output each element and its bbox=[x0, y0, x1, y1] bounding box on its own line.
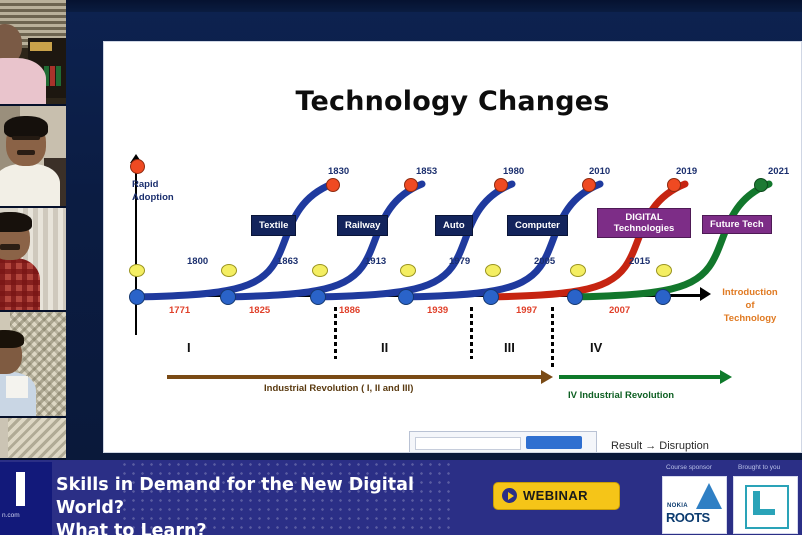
dot-blue-base-3 bbox=[398, 289, 414, 305]
arrow-industrial-revolution-head-icon bbox=[541, 370, 553, 384]
year-bottom-1: 1771 bbox=[169, 305, 190, 316]
dot-yellow-mid-3 bbox=[400, 264, 416, 277]
revolution-numeral-1: I bbox=[187, 340, 191, 355]
dot-yellow-mid-6 bbox=[656, 264, 672, 277]
year-top-1: 1830 bbox=[328, 166, 349, 177]
dot-blue-base-4 bbox=[483, 289, 499, 305]
participant-brow bbox=[12, 136, 40, 140]
year-mid-3: 1913 bbox=[365, 256, 386, 267]
dot-yellow-origin bbox=[129, 264, 145, 277]
year-bottom-6: 2007 bbox=[609, 305, 630, 316]
participant-hair bbox=[4, 116, 48, 138]
meeting-top-bar bbox=[0, 0, 802, 12]
year-mid-5: 2005 bbox=[534, 256, 555, 267]
year-bottom-2: 1825 bbox=[249, 305, 270, 316]
year-bottom-5: 1997 bbox=[516, 305, 537, 316]
tech-box-railway[interactable]: Railway bbox=[337, 215, 388, 236]
shared-slide: Technology Changes Rapid Adoption Introd… bbox=[103, 41, 802, 453]
divider-3 bbox=[551, 307, 554, 369]
chat-send-label bbox=[526, 436, 582, 449]
tech-box-textile[interactable]: Textile bbox=[251, 215, 296, 236]
dot-red-top-3 bbox=[494, 178, 508, 192]
participant-hair bbox=[0, 212, 32, 232]
year-top-5: 2019 bbox=[676, 166, 697, 177]
participant-torso bbox=[0, 258, 40, 312]
tech-box-future[interactable]: Future Tech bbox=[702, 215, 772, 234]
channel-watermark: n.com bbox=[0, 462, 52, 535]
play-icon bbox=[502, 488, 517, 503]
revolution-numeral-4: IV bbox=[590, 340, 602, 355]
roots-logo-text: ROOTS bbox=[666, 510, 710, 525]
year-mid-4: 1979 bbox=[449, 256, 470, 267]
dot-blue-base-5 bbox=[567, 289, 583, 305]
year-top-3: 1980 bbox=[503, 166, 524, 177]
tech-box-digital-line1: DIGITAL bbox=[605, 212, 683, 223]
watermark-icon bbox=[16, 472, 25, 506]
chat-send-button[interactable] bbox=[526, 436, 582, 449]
tile-book bbox=[50, 66, 55, 86]
s-curve-textile bbox=[137, 184, 332, 297]
tech-box-digital[interactable]: DIGITAL Technologies bbox=[597, 208, 691, 238]
webinar-button-label: WEBINAR bbox=[523, 488, 588, 503]
tech-box-computer[interactable]: Computer bbox=[507, 215, 568, 236]
revolution-numeral-2: II bbox=[381, 340, 388, 355]
watermark-text: n.com bbox=[2, 512, 20, 519]
chat-input[interactable] bbox=[415, 437, 521, 450]
chat-widget[interactable] bbox=[409, 431, 597, 453]
dot-green-top-6 bbox=[754, 178, 768, 192]
tile-lamp bbox=[30, 42, 52, 51]
participant-torso bbox=[0, 164, 60, 208]
tech-box-auto[interactable]: Auto bbox=[435, 215, 473, 236]
brought-to-you-label: Brought to you bbox=[738, 464, 780, 471]
dot-blue-base-1 bbox=[220, 289, 236, 305]
participant-tile-1[interactable] bbox=[0, 0, 66, 106]
dot-yellow-mid-2 bbox=[312, 264, 328, 277]
year-top-4: 2010 bbox=[589, 166, 610, 177]
divider-1 bbox=[334, 307, 337, 359]
year-mid-1: 1800 bbox=[187, 256, 208, 267]
dot-red-top-4 bbox=[582, 178, 596, 192]
tech-box-digital-line2: Technologies bbox=[605, 223, 683, 234]
participant-tile-2[interactable] bbox=[0, 106, 66, 208]
nokia-roots-logo: NOKIA ROOTS bbox=[662, 476, 727, 534]
partner-logo-mark-base-icon bbox=[753, 509, 775, 515]
participant-filmstrip[interactable] bbox=[0, 0, 66, 460]
arrow-fourth-revolution-label: IV Industrial Revolution bbox=[568, 390, 674, 401]
banner-headline: Skills in Demand for the New Digital Wor… bbox=[56, 474, 486, 535]
webinar-button[interactable]: WEBINAR bbox=[493, 482, 620, 510]
banner-headline-line2: What to Learn? bbox=[56, 520, 486, 535]
year-bottom-3: 1886 bbox=[339, 305, 360, 316]
nokia-logo-text: NOKIA bbox=[667, 503, 688, 509]
dot-yellow-mid-4 bbox=[485, 264, 501, 277]
dot-blue-base-0 bbox=[129, 289, 145, 305]
banner-headline-line1: Skills in Demand for the New Digital Wor… bbox=[56, 474, 486, 520]
arrow-industrial-revolution-label: Industrial Revolution ( I, II and III) bbox=[264, 383, 413, 394]
dot-blue-base-2 bbox=[310, 289, 326, 305]
tile-paper bbox=[6, 376, 28, 398]
dot-red-origin bbox=[130, 159, 145, 174]
participant-hair bbox=[0, 330, 24, 348]
arrow-fourth-revolution bbox=[559, 375, 721, 379]
year-bottom-4: 1939 bbox=[427, 305, 448, 316]
screen-share-window: Technology Changes Rapid Adoption Introd… bbox=[0, 0, 802, 535]
divider-2 bbox=[470, 307, 473, 359]
dot-yellow-mid-5 bbox=[570, 264, 586, 277]
partner-logo-frame-icon bbox=[745, 485, 789, 529]
tile-book bbox=[56, 66, 61, 86]
course-sponsor-label: Course sponsor bbox=[666, 464, 712, 471]
result-disruption-note: Result → Disruption bbox=[611, 440, 709, 452]
arrow-fourth-revolution-head-icon bbox=[720, 370, 732, 384]
dot-red-top-2 bbox=[404, 178, 418, 192]
revolution-numeral-3: III bbox=[504, 340, 515, 355]
participant-moustache bbox=[0, 244, 20, 250]
triangle-icon bbox=[696, 483, 722, 509]
participant-tile-3[interactable] bbox=[0, 208, 66, 312]
dot-red-top-1 bbox=[326, 178, 340, 192]
year-mid-6: 2015 bbox=[629, 256, 650, 267]
partner-logo bbox=[733, 476, 798, 534]
dot-blue-base-6 bbox=[655, 289, 671, 305]
dot-yellow-mid-1 bbox=[221, 264, 237, 277]
arrow-industrial-revolution bbox=[167, 375, 542, 379]
dot-red-top-5 bbox=[667, 178, 681, 192]
year-mid-2: 1863 bbox=[277, 256, 298, 267]
participant-tile-5[interactable] bbox=[0, 418, 66, 460]
s-curves-group bbox=[104, 42, 801, 452]
year-top-6: 2021 bbox=[768, 166, 789, 177]
participant-torso bbox=[0, 58, 46, 106]
tile-background bbox=[8, 418, 66, 458]
participant-tile-4[interactable] bbox=[0, 312, 66, 418]
participant-moustache bbox=[17, 150, 35, 155]
year-top-2: 1853 bbox=[416, 166, 437, 177]
